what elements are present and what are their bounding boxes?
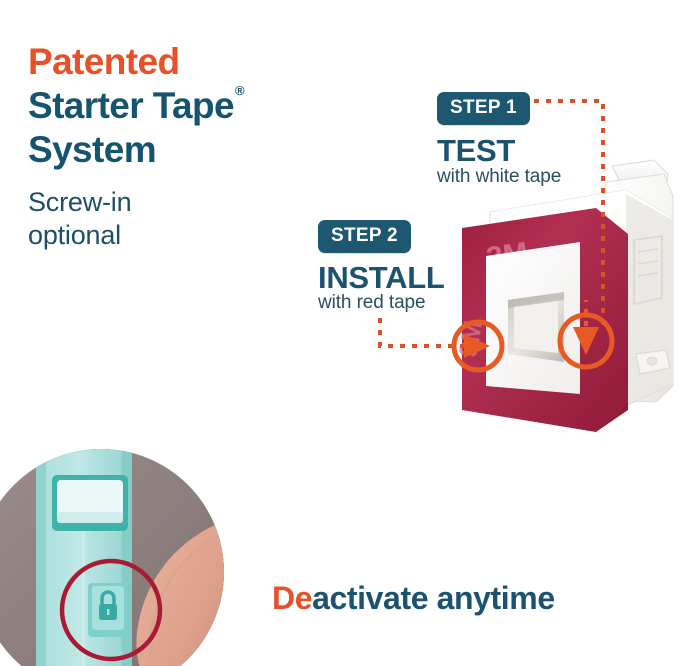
headline-system: System <box>28 128 328 172</box>
product-photo-keystone-jack: 3M 3M <box>430 148 679 438</box>
padlock-icon <box>88 583 128 637</box>
deactivate-rest: activate anytime <box>312 580 555 616</box>
deactivate-prefix: De <box>272 580 312 616</box>
headline-starter-tape-text: Starter Tape <box>28 85 234 126</box>
headline-subtext: Screw-in optional <box>28 186 328 252</box>
red-starter-tape-frame: 3M 3M <box>452 208 628 432</box>
tape-3m-wordmark-side: 3M <box>452 318 488 359</box>
callout-subtitle-test: with white tape <box>437 166 561 188</box>
subtext-line-1: Screw-in <box>28 186 328 219</box>
poster-canvas: Patented Starter Tape® System Screw-in o… <box>0 0 679 666</box>
registered-trademark-icon: ® <box>235 83 244 98</box>
headline-starter-tape: Starter Tape® <box>28 84 328 128</box>
photo-deactivate-closeup <box>0 449 224 666</box>
callout-subtitle-install: with red tape <box>318 292 426 314</box>
badge-step-1[interactable]: STEP 1 <box>437 92 530 125</box>
callout-title-test: TEST <box>437 133 515 169</box>
deactivate-headline: Deactivate anytime <box>272 580 555 617</box>
badge-step-2[interactable]: STEP 2 <box>318 220 411 253</box>
headline-block: Patented Starter Tape® System Screw-in o… <box>28 40 328 252</box>
callout-title-install: INSTALL <box>318 260 444 296</box>
headline-patented: Patented <box>28 40 328 84</box>
subtext-line-2: optional <box>28 219 328 252</box>
closeup-illustration <box>0 449 224 666</box>
